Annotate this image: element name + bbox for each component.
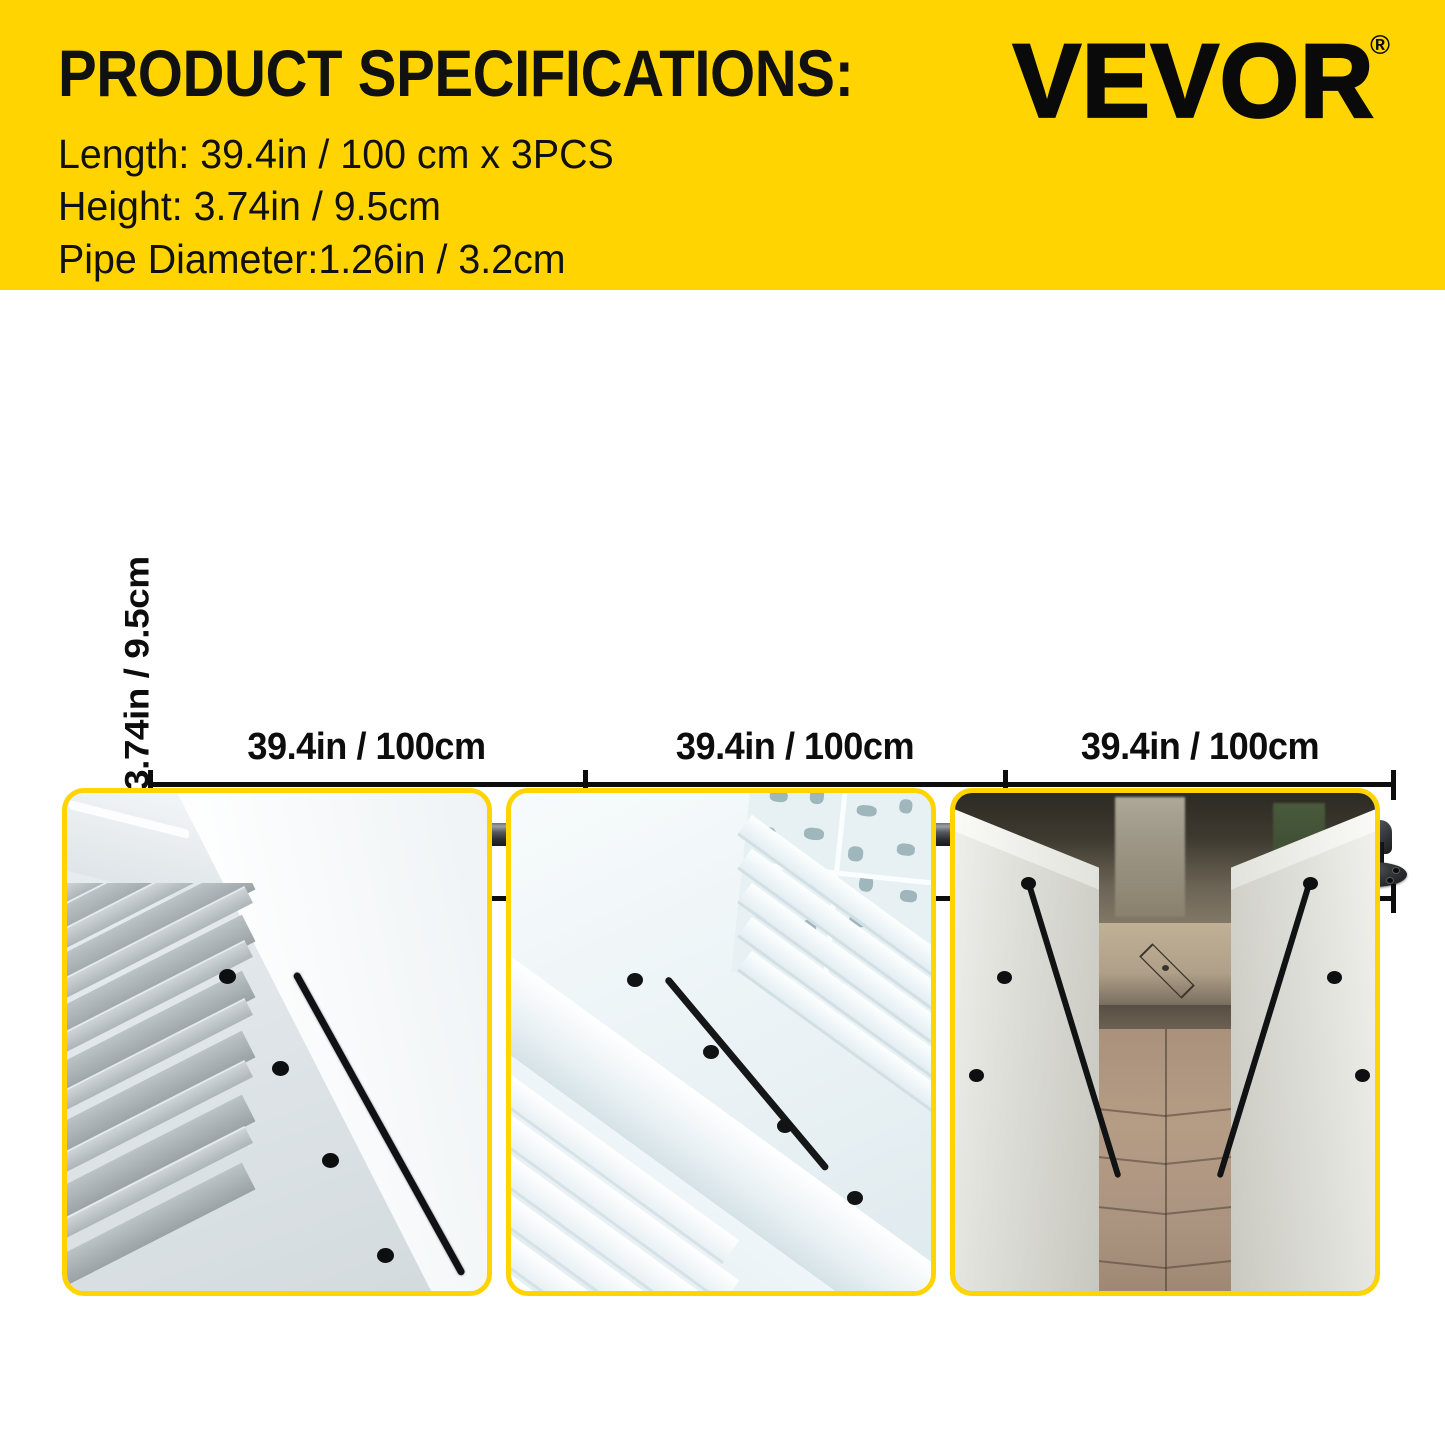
dimension-diagram: 39.4in / 100cm 39.4in / 100cm 39.4in / 1…	[0, 290, 1445, 770]
segment-label-3: 39.4in / 100cm	[1015, 726, 1386, 769]
spec-line-height: Height: 3.74in / 9.5cm	[58, 180, 845, 232]
photo-card-ramp-corridor	[950, 788, 1380, 1296]
photo-scene-stairwell	[67, 793, 487, 1291]
photo-card-stairwell	[62, 788, 492, 1296]
spec-line-pipe-diameter: Pipe Diameter:1.26in / 3.2cm	[58, 233, 845, 285]
photo-scene-ramp-corridor	[955, 793, 1375, 1291]
page-title: PRODUCT SPECIFICATIONS:	[58, 40, 853, 106]
photo-scene-modern-stairs	[511, 793, 931, 1291]
application-photo-row	[0, 788, 1445, 1300]
height-dimension-label: 3.74in / 9.5cm	[118, 556, 157, 790]
segment-label-2: 39.4in / 100cm	[596, 726, 995, 769]
header-band: PRODUCT SPECIFICATIONS: Length: 39.4in /…	[0, 0, 1445, 290]
photo-card-modern-stairs	[506, 788, 936, 1296]
top-dimension-line	[148, 782, 1395, 787]
spec-list: Length: 39.4in / 100 cm x 3PCS Height: 3…	[58, 128, 878, 285]
brand-wordmark: VEVOR	[1013, 30, 1375, 134]
spec-line-length: Length: 39.4in / 100 cm x 3PCS	[58, 128, 845, 180]
product-spec-page: PRODUCT SPECIFICATIONS: Length: 39.4in /…	[0, 0, 1445, 1445]
segment-label-1: 39.4in / 100cm	[159, 726, 574, 769]
brand-logo: VEVOR ®	[1013, 30, 1390, 140]
